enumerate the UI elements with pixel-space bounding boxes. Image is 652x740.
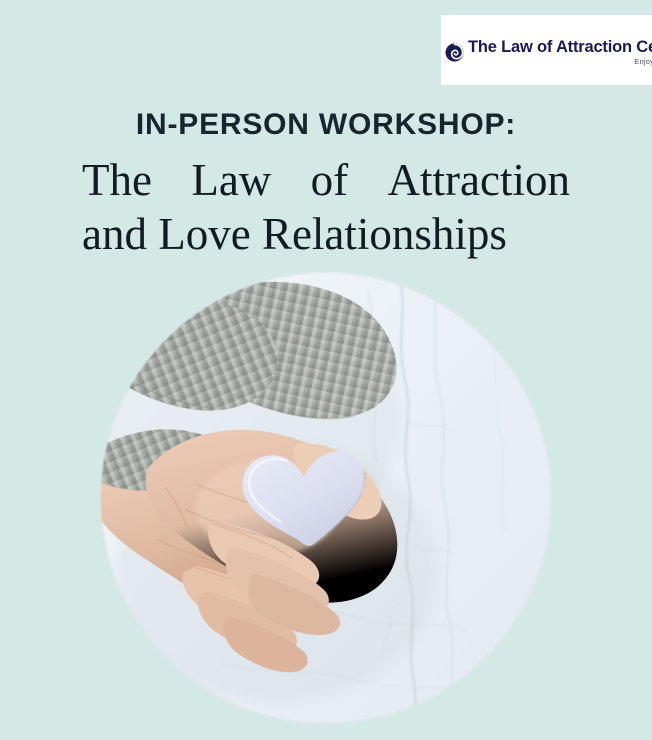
title-word: of <box>311 153 349 207</box>
title-line-1: The Law of Attraction <box>82 153 570 207</box>
page-title: The Law of Attraction and Love Relations… <box>82 153 570 261</box>
brand-tagline: Enjoy Your Life <box>634 58 652 66</box>
spiral-swirl-icon <box>445 43 464 62</box>
event-flyer: The Law of Attraction Centre Enjoy Your … <box>0 0 652 740</box>
workshop-kicker: IN-PERSON WORKSHOP: <box>0 108 652 142</box>
brand-logo-inner: The Law of Attraction Centre Enjoy Your … <box>445 39 652 65</box>
title-word: The <box>82 153 152 207</box>
title-line-2: and Love Relationships <box>82 207 570 261</box>
brand-logo-text: The Law of Attraction Centre Enjoy Your … <box>468 39 652 65</box>
title-word: Law <box>191 153 271 207</box>
brand-name: The Law of Attraction Centre <box>468 39 652 56</box>
hero-photo-circle <box>100 272 552 724</box>
title-word: Attraction <box>388 153 570 207</box>
brand-logo-badge: The Law of Attraction Centre Enjoy Your … <box>441 15 652 85</box>
hands-holding-heart-photo <box>100 272 552 724</box>
